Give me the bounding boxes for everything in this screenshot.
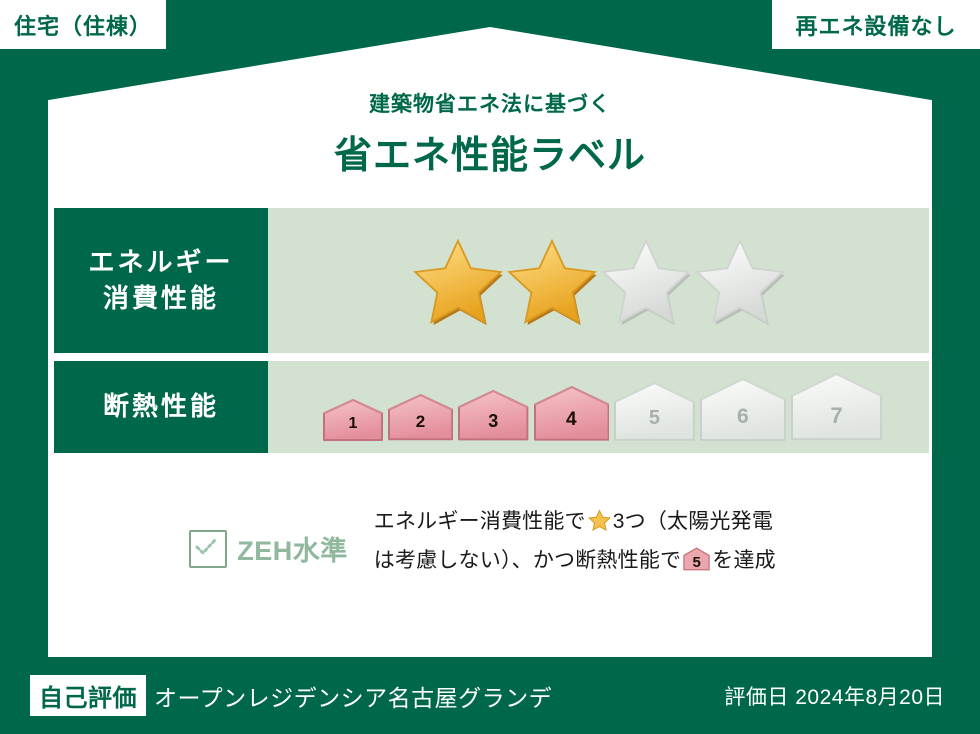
zeh-label: ZEH水準 bbox=[237, 529, 348, 568]
insulation-level-number: 4 bbox=[534, 409, 610, 431]
insulation-level-1: 1 bbox=[323, 399, 383, 441]
insulation-house-icon-number: 5 bbox=[683, 551, 710, 576]
energy-performance-row: エネルギー消費性能 bbox=[54, 208, 929, 353]
star-icon bbox=[588, 509, 611, 544]
energy-performance-label: エネルギー消費性能 bbox=[54, 208, 268, 353]
footer-bar: 自己評価 オープンレジデンシア名古屋グランデ 評価日 2024年8月20日 bbox=[0, 657, 980, 734]
zeh-mark: ZEH水準 bbox=[189, 505, 348, 568]
insulation-house-icon: 5 bbox=[683, 547, 710, 583]
insulation-level-number: 5 bbox=[614, 407, 695, 430]
zeh-check-icon bbox=[189, 530, 227, 568]
insulation-level-5: 5 bbox=[614, 382, 695, 441]
insulation-level-number: 7 bbox=[791, 403, 882, 429]
insulation-level-number: 2 bbox=[388, 412, 453, 432]
building-name: オープンレジデンシア名古屋グランデ bbox=[154, 679, 552, 713]
zeh-description: エネルギー消費性能で3つ（太陽光発電は考慮しない）、かつ断熱性能で5を達成 bbox=[374, 505, 794, 582]
insulation-performance-body: 1234567 bbox=[268, 361, 929, 453]
energy-performance-body bbox=[268, 208, 929, 353]
insulation-level-7: 7 bbox=[791, 373, 882, 440]
zeh-desc-part3: は考慮しない）、かつ断熱性能で bbox=[374, 549, 682, 572]
evaluation-type-badge: 自己評価 bbox=[30, 675, 146, 716]
energy-label-line2: 消費性能 bbox=[103, 283, 219, 313]
insulation-level-scale: 1234567 bbox=[315, 373, 882, 440]
star-rating bbox=[413, 236, 785, 326]
star-filled-icon bbox=[507, 236, 597, 326]
insulation-level-6: 6 bbox=[700, 378, 786, 441]
star-filled-icon bbox=[413, 236, 503, 326]
evaluation-date: 評価日 2024年8月20日 bbox=[724, 681, 945, 711]
zeh-standard-block: ZEH水準 エネルギー消費性能で3つ（太陽光発電は考慮しない）、かつ断熱性能で5… bbox=[54, 505, 929, 582]
renewable-energy-badge: 再エネ設備なし bbox=[772, 0, 980, 49]
building-type-badge: 住宅（住棟） bbox=[0, 0, 166, 49]
energy-label-line1: エネルギー bbox=[88, 247, 233, 277]
insulation-level-3: 3 bbox=[458, 390, 528, 440]
insulation-level-number: 1 bbox=[323, 415, 383, 433]
insulation-level-4: 4 bbox=[534, 386, 610, 441]
insulation-performance-label: 断熱性能 bbox=[54, 361, 268, 453]
insulation-level-number: 3 bbox=[458, 411, 528, 432]
star-empty-icon bbox=[601, 236, 691, 326]
star-empty-icon bbox=[695, 236, 785, 326]
zeh-desc-part4: を達成 bbox=[712, 549, 776, 572]
zeh-desc-part1: エネルギー消費性能で bbox=[374, 510, 586, 533]
insulation-level-number: 6 bbox=[700, 405, 786, 429]
insulation-level-2: 2 bbox=[388, 394, 453, 440]
zeh-desc-part2: 3つ（太陽光発電 bbox=[613, 510, 773, 533]
insulation-performance-row: 断熱性能 1234567 bbox=[54, 361, 929, 453]
